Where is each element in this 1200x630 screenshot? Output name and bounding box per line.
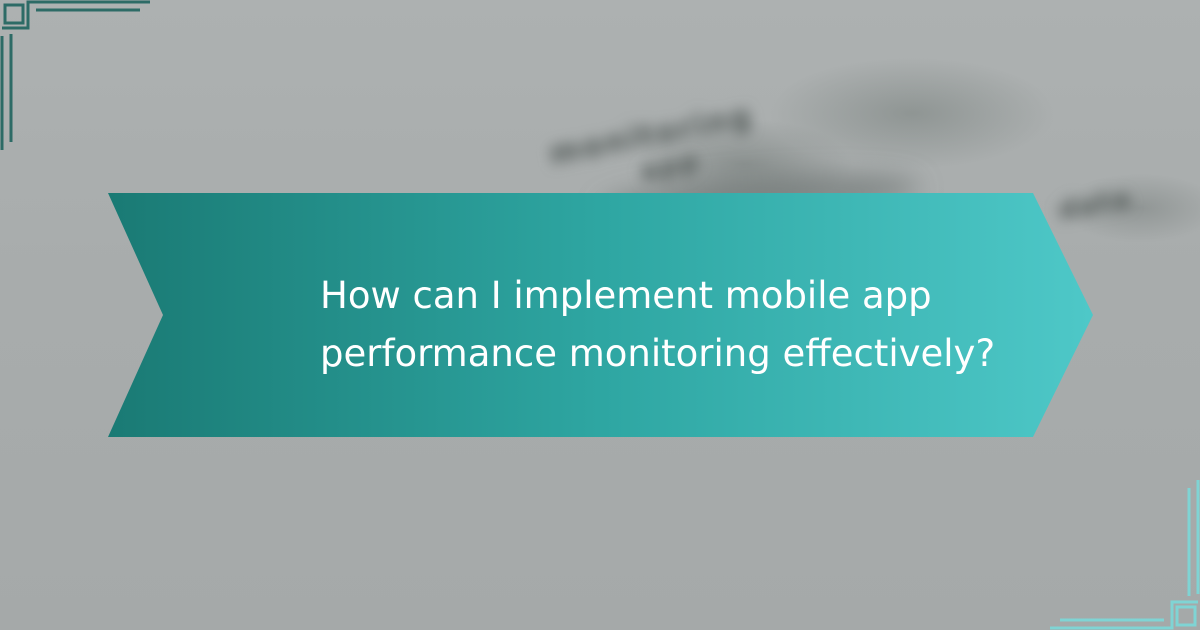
- corner-bracket-bottom-right: [1040, 480, 1200, 630]
- headline-banner: How can I implement mobile app performan…: [108, 193, 1093, 437]
- poster-canvas: monitoring app data: [0, 0, 1200, 630]
- corner-square-icon: [1177, 607, 1195, 625]
- headline-text: How can I implement mobile app performan…: [320, 267, 1010, 383]
- corner-square-icon: [5, 5, 23, 23]
- corner-bracket-top-left: [0, 0, 160, 150]
